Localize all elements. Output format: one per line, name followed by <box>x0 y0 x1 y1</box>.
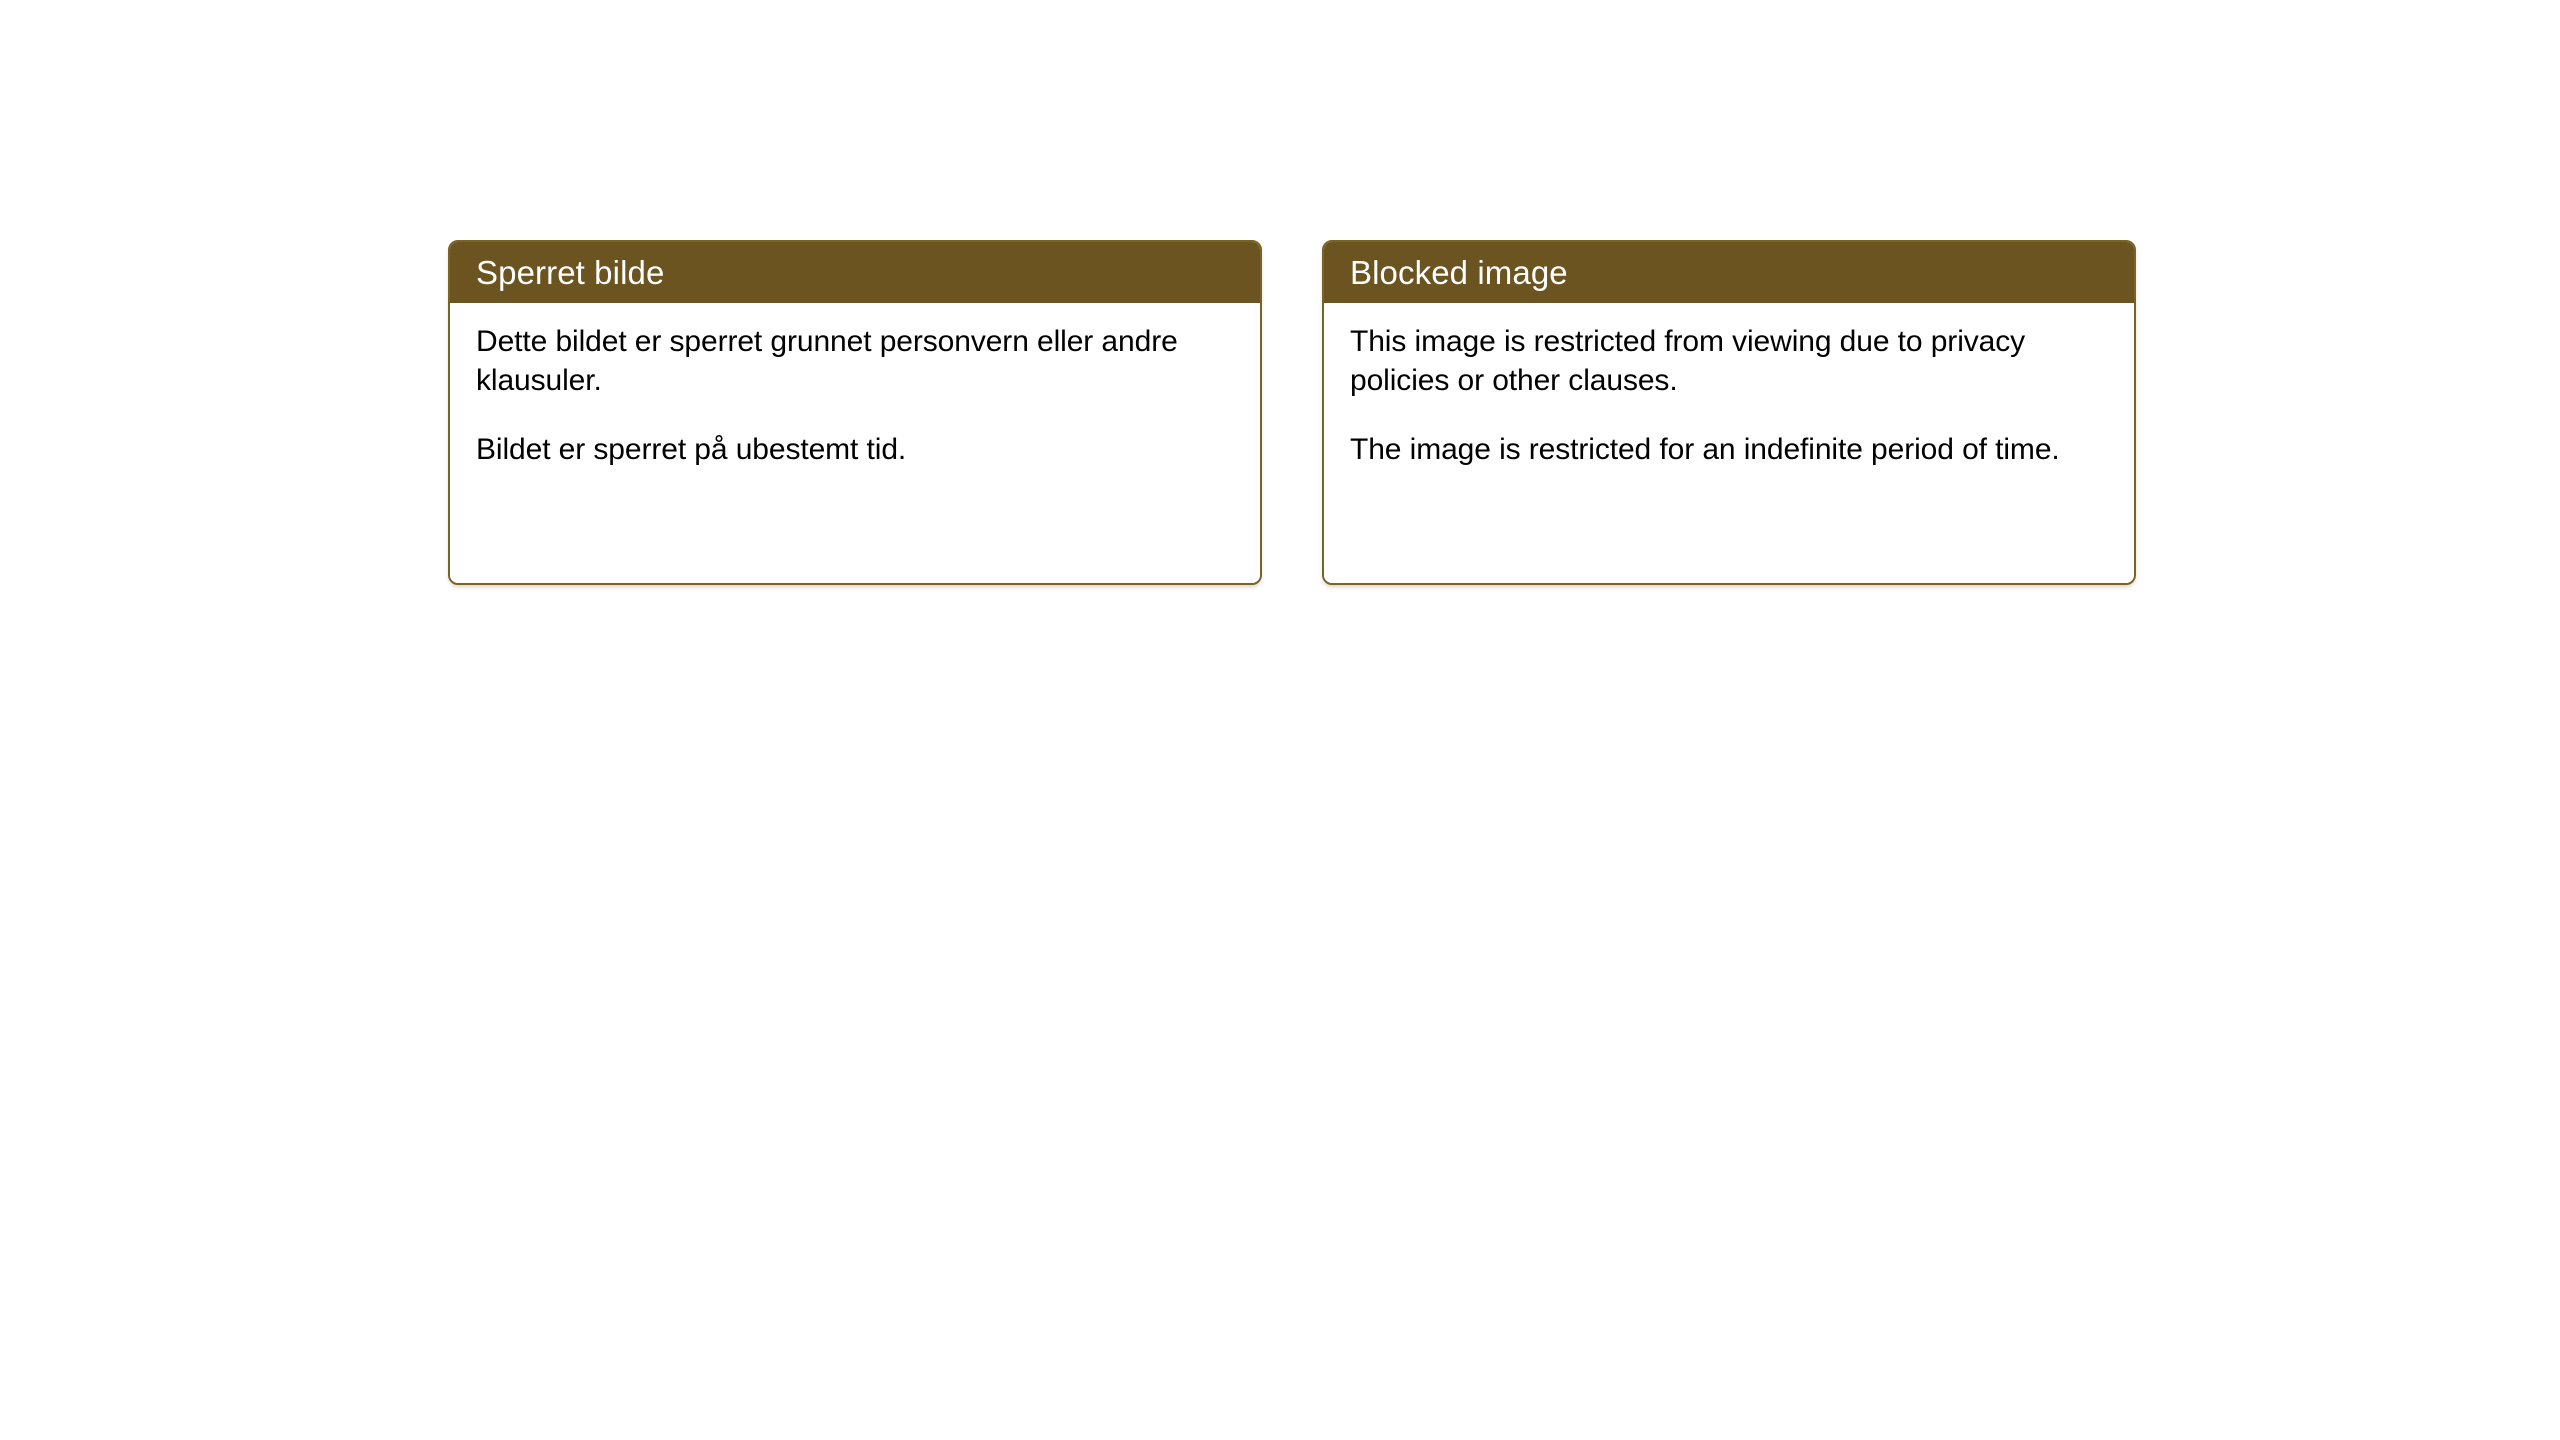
blocked-image-card-norwegian: Sperret bilde Dette bildet er sperret gr… <box>448 240 1262 585</box>
card-message-secondary-english: The image is restricted for an indefinit… <box>1350 431 2108 470</box>
card-header-english: Blocked image <box>1324 242 2134 303</box>
card-message-primary-norwegian: Dette bildet er sperret grunnet personve… <box>476 323 1234 400</box>
card-title-english: Blocked image <box>1350 256 1568 289</box>
card-title-norwegian: Sperret bilde <box>476 256 664 289</box>
card-message-secondary-norwegian: Bildet er sperret på ubestemt tid. <box>476 431 1234 470</box>
card-body-english: This image is restricted from viewing du… <box>1324 303 2134 583</box>
blocked-image-notice-group: Sperret bilde Dette bildet er sperret gr… <box>448 240 2136 585</box>
blocked-image-card-english: Blocked image This image is restricted f… <box>1322 240 2136 585</box>
card-message-primary-english: This image is restricted from viewing du… <box>1350 323 2108 400</box>
card-header-norwegian: Sperret bilde <box>450 242 1260 303</box>
card-body-norwegian: Dette bildet er sperret grunnet personve… <box>450 303 1260 583</box>
